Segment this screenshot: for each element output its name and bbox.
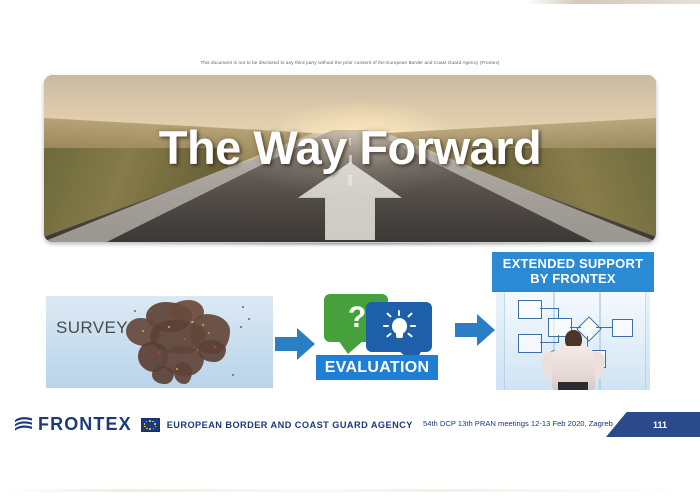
extended-support-header: EXTENDED SUPPORT BY FRONTEX bbox=[492, 252, 654, 292]
europe-map-of-people-icon bbox=[114, 296, 264, 388]
evaluation-label: EVALUATION bbox=[325, 359, 430, 377]
evaluation-panel: ? EVALUATION bbox=[316, 292, 448, 392]
scan-artifact-bottom bbox=[0, 489, 700, 492]
meeting-info: 54th DCP 13th PRAN meetings 12-13 Feb 20… bbox=[423, 419, 613, 428]
survey-panel: SURVEY bbox=[46, 296, 273, 388]
flowchart-node bbox=[518, 334, 542, 353]
disclaimer-text: This document is not to be disclosed to … bbox=[0, 60, 700, 65]
arrow-right-icon-evaluation-to-support bbox=[455, 314, 495, 346]
extended-support-line-2: BY FRONTEX bbox=[530, 272, 616, 287]
extended-support-panel: EXTENDED SUPPORT BY FRONTEX bbox=[492, 252, 654, 392]
extended-support-line-1: EXTENDED SUPPORT bbox=[503, 257, 643, 272]
agency-name: EUROPEAN BORDER AND COAST GUARD AGENCY bbox=[167, 420, 413, 430]
arrow-right-icon-survey-to-evaluation bbox=[275, 328, 315, 360]
hero-drop-shadow bbox=[60, 243, 642, 249]
flowchart-node bbox=[518, 300, 542, 319]
hero-banner-road-image: The Way Forward bbox=[44, 75, 656, 242]
page-number: 111 bbox=[639, 420, 667, 430]
frontex-wordmark: FRONTEX bbox=[38, 414, 132, 435]
eu-flag-icon bbox=[141, 418, 160, 432]
frontex-logo: FRONTEX EUROPEAN BORDER AND COAST GUARD … bbox=[14, 414, 413, 435]
flowchart-photo bbox=[496, 292, 650, 390]
frontex-wave-icon bbox=[14, 416, 33, 433]
page-number-badge: 111 bbox=[606, 412, 700, 437]
flowchart-node bbox=[612, 319, 633, 337]
process-flow-row: SURVEY bbox=[0, 250, 700, 400]
hero-title: The Way Forward bbox=[44, 124, 656, 171]
scan-artifact-top bbox=[526, 0, 700, 4]
evaluation-banner: EVALUATION bbox=[316, 355, 438, 380]
person-legs bbox=[558, 382, 588, 390]
lightbulb-icon bbox=[366, 302, 432, 352]
slide-footer: FRONTEX EUROPEAN BORDER AND COAST GUARD … bbox=[0, 412, 700, 446]
